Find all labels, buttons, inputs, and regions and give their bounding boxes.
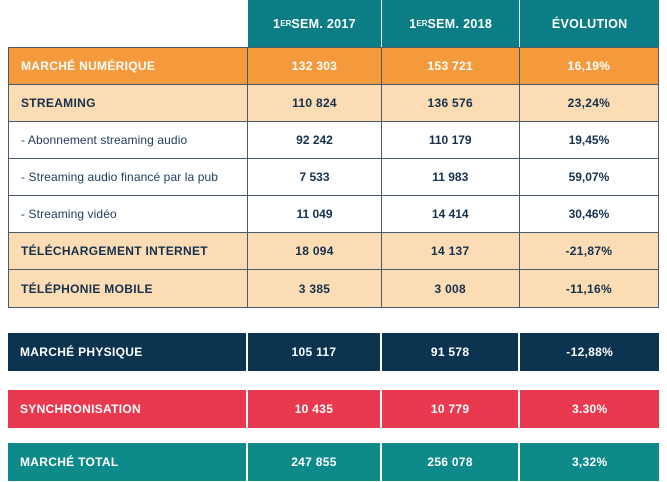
header-evolution-label: ÉVOLUTION	[520, 0, 659, 47]
row-sem2017: 7 533	[248, 159, 381, 195]
table-row: - Streaming audio financé par la pub7 53…	[9, 159, 658, 196]
row-evolution: 23,24%	[520, 85, 658, 121]
table-row: STREAMING110 824136 57623,24%	[9, 85, 658, 122]
summary-sem2018: 10 779	[382, 390, 521, 428]
row-label: - Abonnement streaming audio	[9, 122, 248, 158]
row-label: STREAMING	[9, 85, 248, 121]
header-sem2017-sup: ER	[280, 19, 291, 28]
row-evolution: -11,16%	[520, 270, 658, 307]
table-row: TÉLÉPHONIE MOBILE3 3853 008-11,16%	[9, 270, 658, 307]
header-col-sem2017: 1ER SEM. 2017	[248, 0, 382, 47]
row-sem2017: 92 242	[248, 122, 381, 158]
header-label-spacer	[8, 0, 248, 47]
summary-label: MARCHÉ PHYSIQUE	[8, 333, 248, 371]
row-label: - Streaming audio financé par la pub	[9, 159, 248, 195]
row-sem2018: 14 137	[382, 233, 520, 269]
table-row: - Abonnement streaming audio92 242110 17…	[9, 122, 658, 159]
row-sem2017: 3 385	[248, 270, 381, 307]
row-label: - Streaming vidéo	[9, 196, 248, 232]
row-evolution: -21,87%	[520, 233, 658, 269]
summary-sem2017: 105 117	[248, 333, 382, 371]
summary-block-marche-total: MARCHÉ TOTAL 247 855 256 078 3,32%	[8, 443, 659, 481]
header-col-sem2018: 1ER SEM. 2018	[382, 0, 521, 47]
header-sem2017-suffix: SEM. 2017	[291, 17, 356, 31]
main-table-body: MARCHÉ NUMÉRIQUE132 303153 72116,19%STRE…	[8, 47, 659, 308]
summary-evolution: -12,88%	[520, 333, 659, 371]
header-sem2018-sup: ER	[416, 19, 427, 28]
summary-sem2018: 91 578	[382, 333, 521, 371]
row-sem2018: 3 008	[382, 270, 520, 307]
summary-sem2017: 247 855	[248, 443, 382, 481]
summary-evolution: 3,32%	[520, 443, 659, 481]
row-sem2017: 132 303	[248, 48, 381, 84]
summary-block-marche-physique: MARCHÉ PHYSIQUE 105 117 91 578 -12,88%	[8, 333, 659, 371]
row-evolution: 16,19%	[520, 48, 658, 84]
row-sem2017: 11 049	[248, 196, 381, 232]
row-label: TÉLÉPHONIE MOBILE	[9, 270, 248, 307]
header-sem2017-prefix: 1	[273, 17, 280, 31]
header-col-evolution: ÉVOLUTION	[520, 0, 659, 47]
row-sem2018: 11 983	[382, 159, 520, 195]
summary-sem2018: 256 078	[382, 443, 521, 481]
row-label: MARCHÉ NUMÉRIQUE	[9, 48, 248, 84]
header-sem2018-suffix: SEM. 2018	[428, 17, 493, 31]
row-label: TÉLÉCHARGEMENT INTERNET	[9, 233, 248, 269]
row-sem2017: 18 094	[248, 233, 381, 269]
table-row: MARCHÉ NUMÉRIQUE132 303153 72116,19%	[9, 48, 658, 85]
summary-label: SYNCHRONISATION	[8, 390, 248, 428]
header-sem2018-prefix: 1	[409, 17, 416, 31]
row-sem2018: 110 179	[382, 122, 520, 158]
summary-block-synchronisation: SYNCHRONISATION 10 435 10 779 3.30%	[8, 390, 659, 428]
revenue-comparison-table: 1ER SEM. 2017 1ER SEM. 2018 ÉVOLUTION MA…	[0, 0, 667, 482]
row-sem2018: 136 576	[382, 85, 520, 121]
row-evolution: 59,07%	[520, 159, 658, 195]
row-sem2018: 14 414	[382, 196, 520, 232]
table-header-row: 1ER SEM. 2017 1ER SEM. 2018 ÉVOLUTION	[8, 0, 659, 47]
summary-label: MARCHÉ TOTAL	[8, 443, 248, 481]
row-sem2018: 153 721	[382, 48, 520, 84]
row-evolution: 19,45%	[520, 122, 658, 158]
table-row: - Streaming vidéo11 04914 41430,46%	[9, 196, 658, 233]
row-evolution: 30,46%	[520, 196, 658, 232]
summary-sem2017: 10 435	[248, 390, 382, 428]
row-sem2017: 110 824	[248, 85, 381, 121]
summary-evolution: 3.30%	[520, 390, 659, 428]
table-row: TÉLÉCHARGEMENT INTERNET18 09414 137-21,8…	[9, 233, 658, 270]
